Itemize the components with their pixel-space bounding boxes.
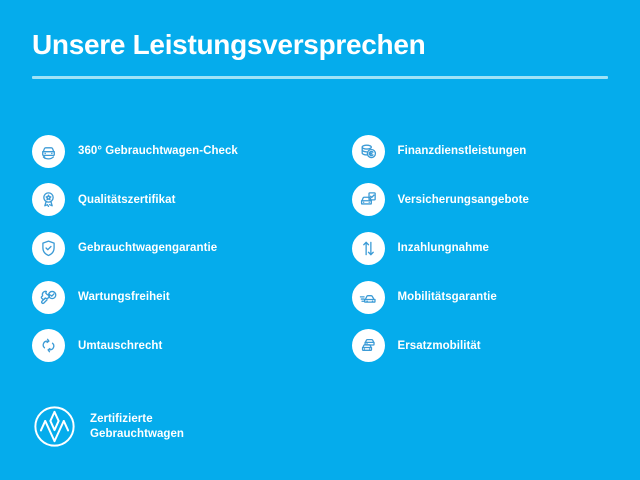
vw-logo bbox=[32, 404, 77, 449]
benefits-left-column: 360° Gebrauchtwagen-Check Qualitätszerti… bbox=[0, 127, 321, 370]
exchange-arrows-icon bbox=[32, 329, 65, 362]
benefit-label: Qualitätszertifikat bbox=[78, 193, 175, 207]
benefit-item[interactable]: Umtauschrecht bbox=[32, 321, 321, 370]
coins-euro-icon bbox=[352, 135, 385, 168]
benefit-label: Inzahlungnahme bbox=[398, 241, 489, 255]
up-down-arrows-icon bbox=[352, 232, 385, 265]
benefit-item[interactable]: 360° Gebrauchtwagen-Check bbox=[32, 127, 321, 176]
shield-check-icon bbox=[32, 232, 65, 265]
benefit-item[interactable]: Gebrauchtwagengarantie bbox=[32, 224, 321, 273]
title-divider bbox=[32, 76, 608, 79]
benefit-label: Wartungsfreiheit bbox=[78, 290, 170, 304]
benefit-item[interactable]: Finanzdienstleistungen bbox=[352, 127, 640, 176]
benefit-label: Gebrauchtwagengarantie bbox=[78, 241, 217, 255]
brand-text: Zertifizierte Gebrauchtwagen bbox=[90, 412, 184, 442]
benefit-label: Mobilitätsgarantie bbox=[398, 290, 497, 304]
quality-seal-icon bbox=[32, 183, 65, 216]
benefits-right-column: Finanzdienstleistungen Versicherungsange… bbox=[321, 127, 640, 370]
benefit-label: Ersatzmobilität bbox=[398, 339, 481, 353]
brand-text-line-2: Gebrauchtwagen bbox=[90, 427, 184, 442]
car-document-check-icon bbox=[352, 183, 385, 216]
benefit-item[interactable]: Mobilitätsgarantie bbox=[352, 273, 640, 322]
benefit-label: Versicherungsangebote bbox=[398, 193, 529, 207]
two-cars-icon bbox=[352, 329, 385, 362]
promo-page: Unsere Leistungsversprechen 360° Gebrauc bbox=[0, 0, 640, 480]
benefit-item[interactable]: Wartungsfreiheit bbox=[32, 273, 321, 322]
benefit-item[interactable]: Ersatzmobilität bbox=[352, 321, 640, 370]
car-360-check-icon bbox=[32, 135, 65, 168]
page-title: Unsere Leistungsversprechen bbox=[32, 28, 608, 62]
benefit-label: Umtauschrecht bbox=[78, 339, 162, 353]
benefit-item[interactable]: Inzahlungnahme bbox=[352, 224, 640, 273]
benefits-grid: 360° Gebrauchtwagen-Check Qualitätszerti… bbox=[0, 127, 640, 370]
benefit-item[interactable]: Versicherungsangebote bbox=[352, 176, 640, 225]
header: Unsere Leistungsversprechen bbox=[32, 28, 608, 79]
benefit-label: 360° Gebrauchtwagen-Check bbox=[78, 144, 238, 158]
brand-lockup: Zertifizierte Gebrauchtwagen bbox=[32, 404, 184, 449]
benefit-label: Finanzdienstleistungen bbox=[398, 144, 527, 158]
wrench-check-icon bbox=[32, 281, 65, 314]
benefit-item[interactable]: Qualitätszertifikat bbox=[32, 176, 321, 225]
moving-car-icon bbox=[352, 281, 385, 314]
brand-text-line-1: Zertifizierte bbox=[90, 412, 184, 427]
